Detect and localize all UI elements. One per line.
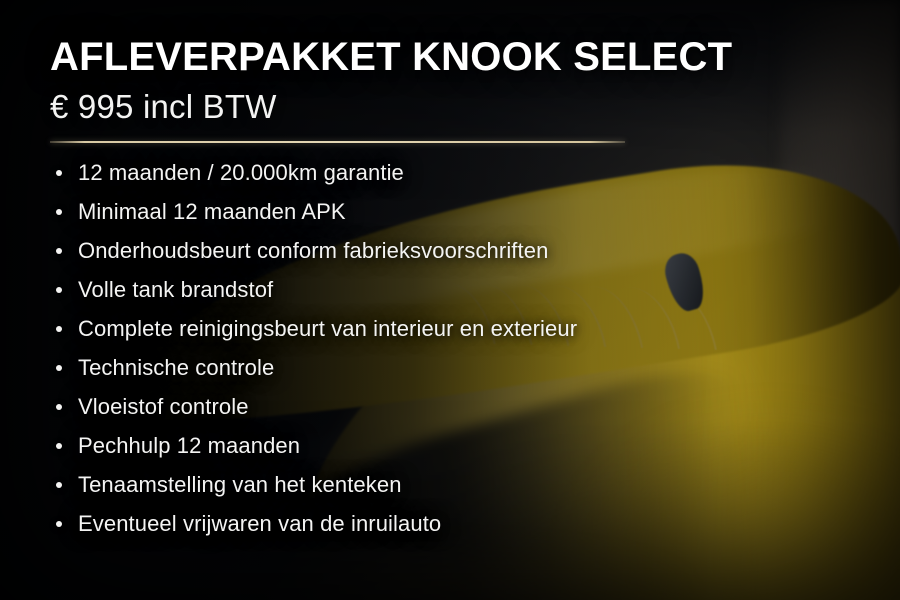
list-item: Volle tank brandstof: [56, 278, 900, 301]
list-item: Eventueel vrijwaren van de inruilauto: [56, 512, 900, 535]
price-label: € 995 incl BTW: [50, 90, 900, 125]
list-item: Pechhulp 12 maanden: [56, 434, 900, 457]
banner-content: AFLEVERPAKKET KNOOK SELECT € 995 incl BT…: [0, 0, 900, 600]
divider: [50, 141, 625, 143]
list-item: Tenaamstelling van het kenteken: [56, 473, 900, 496]
list-item: Onderhoudsbeurt conform fabrieksvoorschr…: [56, 239, 900, 262]
list-item: Minimaal 12 maanden APK: [56, 200, 900, 223]
list-item: Complete reinigingsbeurt van interieur e…: [56, 317, 900, 340]
list-item: 12 maanden / 20.000km garantie: [56, 161, 900, 184]
page-title: AFLEVERPAKKET KNOOK SELECT: [50, 36, 900, 78]
delivery-package-banner: AFLEVERPAKKET KNOOK SELECT € 995 incl BT…: [0, 0, 900, 600]
list-item: Vloeistof controle: [56, 395, 900, 418]
feature-list: 12 maanden / 20.000km garantie Minimaal …: [50, 161, 900, 536]
list-item: Technische controle: [56, 356, 900, 379]
